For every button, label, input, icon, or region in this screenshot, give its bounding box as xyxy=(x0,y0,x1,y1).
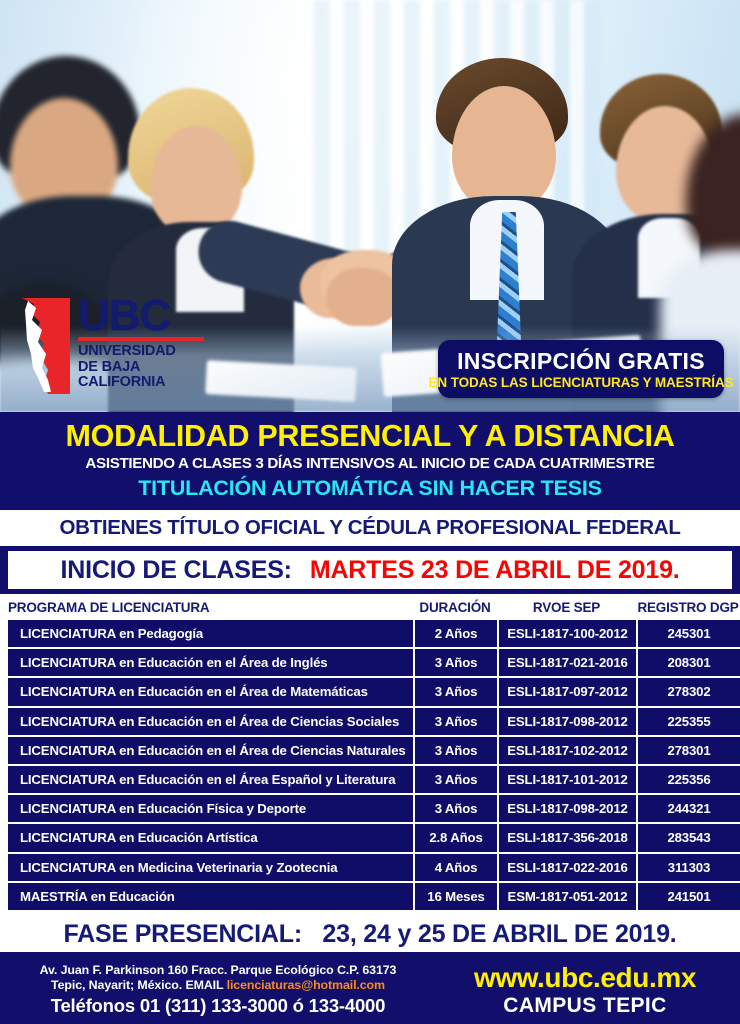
cell-rvoe: ESLI-1817-100-2012 xyxy=(499,620,636,647)
table-row: LICENCIATURA en Medicina Veterinaria y Z… xyxy=(0,854,740,881)
table-header-row: PROGRAMA DE LICENCIATURA DURACIÓN RVOE S… xyxy=(0,594,740,620)
cell-registro: 208301 xyxy=(638,649,740,676)
cell-program: MAESTRÍA en Educación xyxy=(8,883,413,910)
footer-band: Av. Juan F. Parkinson 160 Fracc. Parque … xyxy=(0,956,740,1024)
logo-acronym: UBC xyxy=(78,296,208,336)
cell-rvoe: ESLI-1817-098-2012 xyxy=(499,795,636,822)
cell-duration: 3 Años xyxy=(415,766,497,793)
cell-registro: 278301 xyxy=(638,737,740,764)
footer-phones: Teléfonos 01 (311) 133-3000 ó 133-4000 xyxy=(6,994,430,1017)
start-date-value: MARTES 23 DE ABRIL DE 2019. xyxy=(310,556,680,585)
cell-program: LICENCIATURA en Medicina Veterinaria y Z… xyxy=(8,854,413,881)
table-row: LICENCIATURA en Educación en el Área Esp… xyxy=(0,766,740,793)
cell-program: LICENCIATURA en Educación en el Área de … xyxy=(8,737,413,764)
cell-program: LICENCIATURA en Pedagogía xyxy=(8,620,413,647)
hand-clasp xyxy=(326,268,400,326)
cell-duration: 4 Años xyxy=(415,854,497,881)
cell-program: LICENCIATURA en Educación en el Área Esp… xyxy=(8,766,413,793)
baja-california-peninsula-icon xyxy=(18,296,74,396)
onsite-phase-dates: 23, 24 y 25 DE ABRIL DE 2019. xyxy=(322,920,676,948)
cell-duration: 3 Años xyxy=(415,678,497,705)
start-date-label: INICIO DE CLASES: xyxy=(60,556,291,585)
table-row: LICENCIATURA en Educación Artística2.8 A… xyxy=(0,824,740,851)
badge-headline: INSCRIPCIÓN GRATIS xyxy=(457,348,705,374)
table-row: LICENCIATURA en Pedagogía2 AñosESLI-1817… xyxy=(0,620,740,647)
col-header-program: PROGRAMA DE LICENCIATURA xyxy=(0,600,413,615)
cell-program: LICENCIATURA en Educación Artística xyxy=(8,824,413,851)
cell-registro: 241501 xyxy=(638,883,740,910)
logo-subtitle-line3: CALIFORNIA xyxy=(78,375,208,391)
ubc-logo: UBC UNIVERSIDAD DE BAJA CALIFORNIA xyxy=(18,296,208,398)
cell-rvoe: ESLI-1817-356-2018 xyxy=(499,824,636,851)
cell-registro: 245301 xyxy=(638,620,740,647)
cell-registro: 225356 xyxy=(638,766,740,793)
footer-address-line2: Tepic, Nayarit; México. EMAIL licenciatu… xyxy=(6,978,430,993)
cell-rvoe: ESLI-1817-101-2012 xyxy=(499,766,636,793)
cell-registro: 278302 xyxy=(638,678,740,705)
cell-duration: 2 Años xyxy=(415,620,497,647)
cell-rvoe: ESM-1817-051-2012 xyxy=(499,883,636,910)
free-enrollment-badge: INSCRIPCIÓN GRATIS EN TODAS LAS LICENCIA… xyxy=(438,340,724,398)
col-header-rvoe: RVOE SEP xyxy=(497,600,636,615)
table-row: LICENCIATURA en Educación Física y Depor… xyxy=(0,795,740,822)
onsite-phase-band: FASE PRESENCIAL: 23, 24 y 25 DE ABRIL DE… xyxy=(0,916,740,956)
cell-rvoe: ESLI-1817-102-2012 xyxy=(499,737,636,764)
footer-email-link[interactable]: licenciaturas@hotmail.com xyxy=(227,978,385,992)
cell-rvoe: ESLI-1817-097-2012 xyxy=(499,678,636,705)
hero-photo: UBC UNIVERSIDAD DE BAJA CALIFORNIA INSCR… xyxy=(0,0,740,412)
degree-note-text: OBTIENES TÍTULO OFICIAL Y CÉDULA PROFESI… xyxy=(59,516,680,539)
cell-rvoe: ESLI-1817-098-2012 xyxy=(499,708,636,735)
footer-address-line1: Av. Juan F. Parkinson 160 Fracc. Parque … xyxy=(6,963,430,978)
logo-subtitle: UNIVERSIDAD DE BAJA CALIFORNIA xyxy=(78,344,208,391)
cell-registro: 244321 xyxy=(638,795,740,822)
footer-web-block: www.ubc.edu.mx CAMPUS TEPIC xyxy=(430,962,740,1018)
table-body: LICENCIATURA en Pedagogía2 AñosESLI-1817… xyxy=(0,620,740,910)
table-row: LICENCIATURA en Educación en el Área de … xyxy=(0,737,740,764)
cell-program: LICENCIATURA en Educación en el Área de … xyxy=(8,649,413,676)
cell-rvoe: ESLI-1817-022-2016 xyxy=(499,854,636,881)
headline-tagline: TITULACIÓN AUTOMÁTICA SIN HACER TESIS xyxy=(0,473,740,501)
cell-program: LICENCIATURA en Educación en el Área de … xyxy=(8,708,413,735)
cell-registro: 283543 xyxy=(638,824,740,851)
headline-subtitle: ASISTIENDO A CLASES 3 DÍAS INTENSIVOS AL… xyxy=(0,454,740,473)
cell-rvoe: ESLI-1817-021-2016 xyxy=(499,649,636,676)
cell-program: LICENCIATURA en Educación en el Área de … xyxy=(8,678,413,705)
degree-note-band: OBTIENES TÍTULO OFICIAL Y CÉDULA PROFESI… xyxy=(0,510,740,546)
footer-campus-label: CAMPUS TEPIC xyxy=(430,993,740,1018)
cell-duration: 3 Años xyxy=(415,795,497,822)
cell-duration: 16 Meses xyxy=(415,883,497,910)
cell-duration: 2.8 Años xyxy=(415,824,497,851)
footer-contact-block: Av. Juan F. Parkinson 160 Fracc. Parque … xyxy=(0,963,430,1017)
cell-duration: 3 Años xyxy=(415,649,497,676)
col-header-registro: REGISTRO DGP xyxy=(636,600,740,615)
logo-subtitle-line1: UNIVERSIDAD xyxy=(78,344,208,360)
poster-root: UBC UNIVERSIDAD DE BAJA CALIFORNIA INSCR… xyxy=(0,0,740,1024)
logo-subtitle-line2: DE BAJA xyxy=(78,360,208,376)
table-row: MAESTRÍA en Educación16 MesesESM-1817-05… xyxy=(0,883,740,910)
badge-subtext: EN TODAS LAS LICENCIATURAS Y MAESTRÍAS xyxy=(429,374,734,391)
cell-program: LICENCIATURA en Educación Física y Depor… xyxy=(8,795,413,822)
cell-registro: 311303 xyxy=(638,854,740,881)
footer-address-prefix: Tepic, Nayarit; México. EMAIL xyxy=(51,978,227,992)
cell-registro: 225355 xyxy=(638,708,740,735)
programs-table: PROGRAMA DE LICENCIATURA DURACIÓN RVOE S… xyxy=(0,594,740,916)
main-headline: MODALIDAD PRESENCIAL Y A DISTANCIA xyxy=(0,412,740,454)
start-date-box: INICIO DE CLASES: MARTES 23 DE ABRIL DE … xyxy=(8,551,732,589)
logo-wordmark: UBC UNIVERSIDAD DE BAJA CALIFORNIA xyxy=(78,296,208,391)
table-row: LICENCIATURA en Educación en el Área de … xyxy=(0,708,740,735)
cell-duration: 3 Años xyxy=(415,708,497,735)
headline-band: MODALIDAD PRESENCIAL Y A DISTANCIA ASIST… xyxy=(0,412,740,510)
footer-website-link[interactable]: www.ubc.edu.mx xyxy=(430,962,740,993)
col-header-duration: DURACIÓN xyxy=(413,600,497,615)
cell-duration: 3 Años xyxy=(415,737,497,764)
start-date-band: INICIO DE CLASES: MARTES 23 DE ABRIL DE … xyxy=(0,546,740,594)
table-row: LICENCIATURA en Educación en el Área de … xyxy=(0,678,740,705)
table-row: LICENCIATURA en Educación en el Área de … xyxy=(0,649,740,676)
onsite-phase-label: FASE PRESENCIAL: xyxy=(63,920,302,948)
